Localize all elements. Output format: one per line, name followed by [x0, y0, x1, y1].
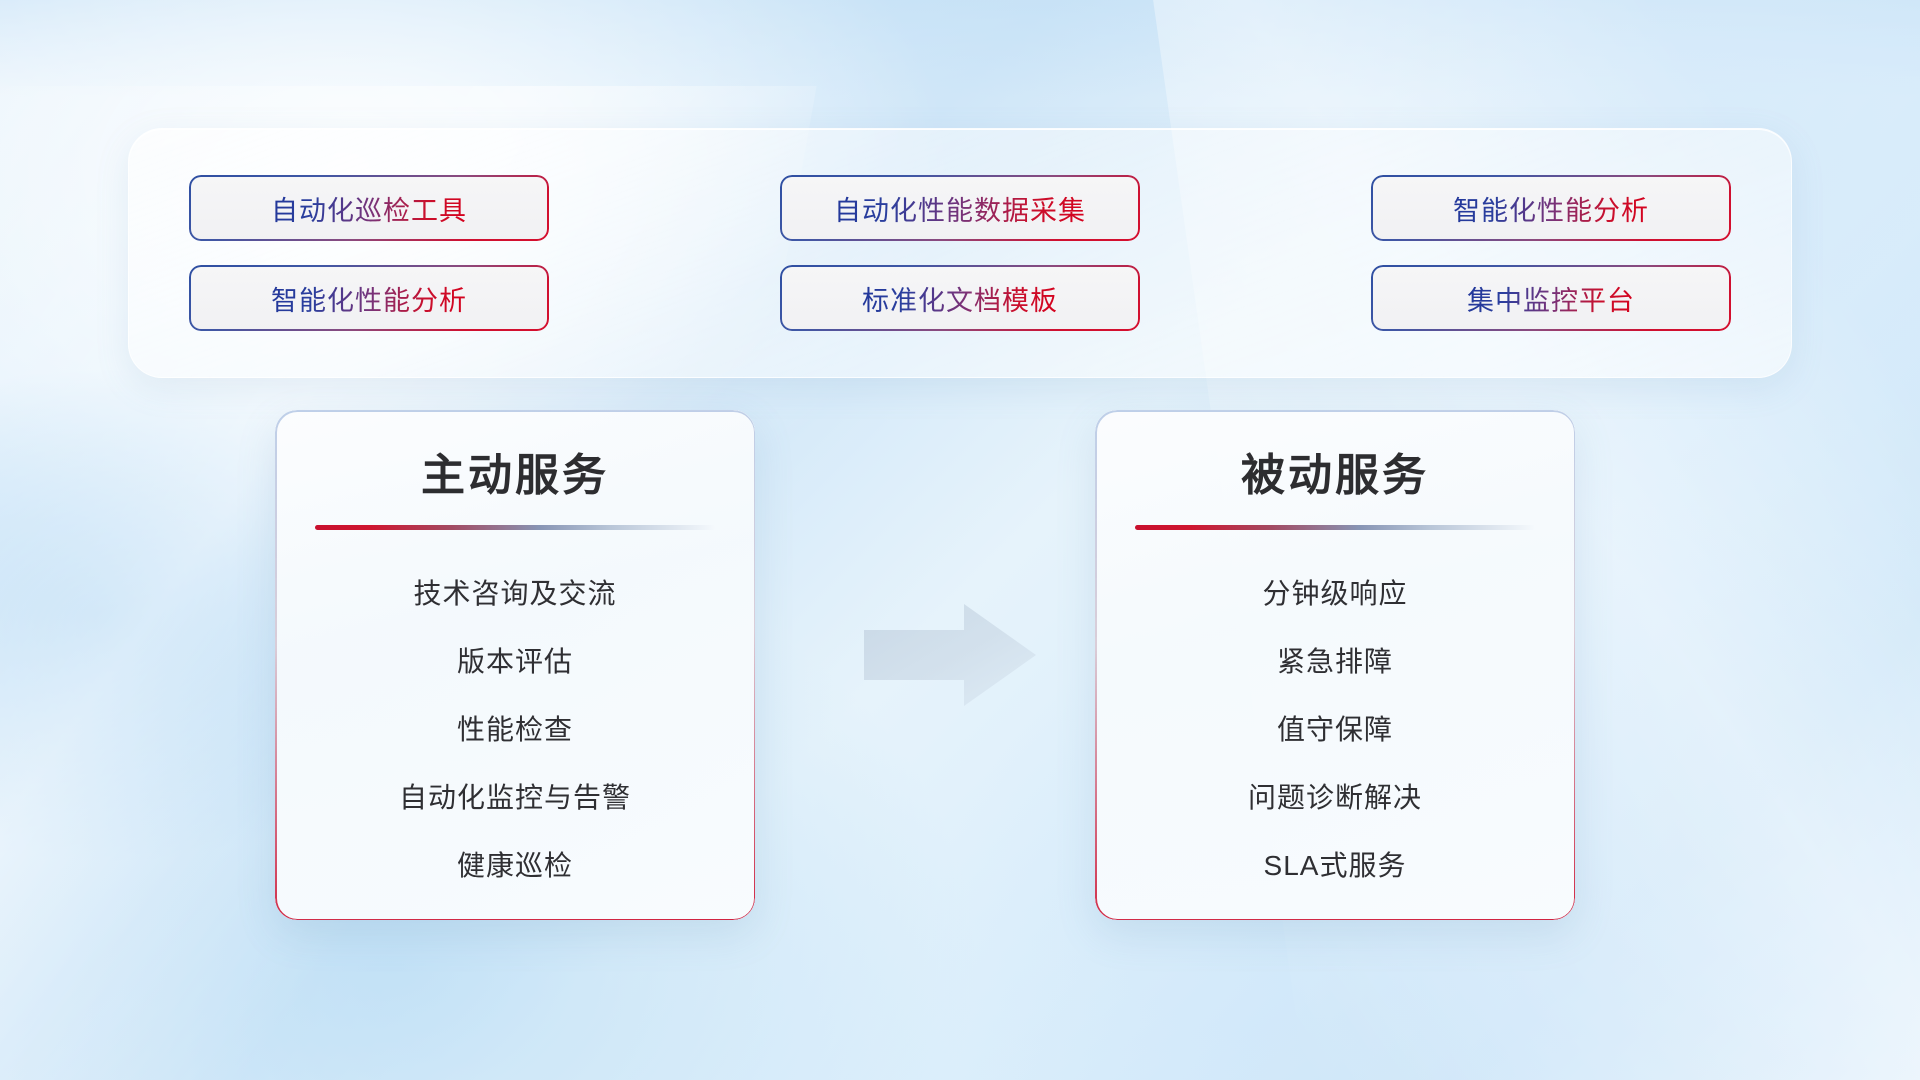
- list-item: 值守保障: [1129, 708, 1541, 748]
- list-item: 问题诊断解决: [1129, 776, 1541, 816]
- active-service-title: 主动服务: [309, 450, 721, 503]
- list-item: 分钟级响应: [1129, 572, 1541, 612]
- active-service-list: 技术咨询及交流 版本评估 性能检查 自动化监控与告警 健康巡检: [309, 572, 721, 884]
- capabilities-panel: 自动化巡检工具 自动化性能数据采集 智能化性能分析 智能化性能分析 标准化文档模…: [128, 128, 1792, 378]
- passive-service-title: 被动服务: [1129, 450, 1541, 503]
- list-item: 健康巡检: [309, 844, 721, 884]
- capabilities-row-1: 自动化巡检工具 自动化性能数据采集 智能化性能分析: [189, 175, 1731, 241]
- capability-tag-label: 集中监控平台: [1467, 279, 1635, 318]
- capability-tag-label: 智能化性能分析: [1453, 189, 1649, 228]
- capability-tag-standardized-document-template[interactable]: 标准化文档模板: [780, 265, 1140, 331]
- active-service-divider: [315, 525, 715, 530]
- passive-service-card: 被动服务 分钟级响应 紧急排障 值守保障 问题诊断解决 SLA式服务: [1095, 410, 1575, 920]
- active-service-card-inner: 主动服务 技术咨询及交流 版本评估 性能检查 自动化监控与告警 健康巡检: [275, 410, 755, 920]
- capability-tag-intelligent-performance-analysis-2[interactable]: 智能化性能分析: [189, 265, 549, 331]
- capability-tag-label: 自动化性能数据采集: [834, 189, 1086, 228]
- capability-tag-intelligent-performance-analysis[interactable]: 智能化性能分析: [1371, 175, 1731, 241]
- list-item: 紧急排障: [1129, 640, 1541, 680]
- capabilities-row-2: 智能化性能分析 标准化文档模板 集中监控平台: [189, 265, 1731, 331]
- capability-tag-automated-performance-data-collection[interactable]: 自动化性能数据采集: [780, 175, 1140, 241]
- active-service-card: 主动服务 技术咨询及交流 版本评估 性能检查 自动化监控与告警 健康巡检: [275, 410, 755, 920]
- flow-arrow-right-icon: [860, 600, 1040, 710]
- passive-service-list: 分钟级响应 紧急排障 值守保障 问题诊断解决 SLA式服务: [1129, 572, 1541, 884]
- list-item: 自动化监控与告警: [309, 776, 721, 816]
- capability-tag-centralized-monitoring-platform[interactable]: 集中监控平台: [1371, 265, 1731, 331]
- passive-service-divider: [1135, 525, 1535, 530]
- passive-service-card-inner: 被动服务 分钟级响应 紧急排障 值守保障 问题诊断解决 SLA式服务: [1095, 410, 1575, 920]
- list-item: 技术咨询及交流: [309, 572, 721, 612]
- list-item: SLA式服务: [1129, 844, 1541, 884]
- capability-tag-automated-inspection-tool[interactable]: 自动化巡检工具: [189, 175, 549, 241]
- capability-tag-label: 智能化性能分析: [271, 279, 467, 318]
- capability-tag-label: 标准化文档模板: [862, 279, 1058, 318]
- list-item: 性能检查: [309, 708, 721, 748]
- list-item: 版本评估: [309, 640, 721, 680]
- capability-tag-label: 自动化巡检工具: [271, 189, 467, 228]
